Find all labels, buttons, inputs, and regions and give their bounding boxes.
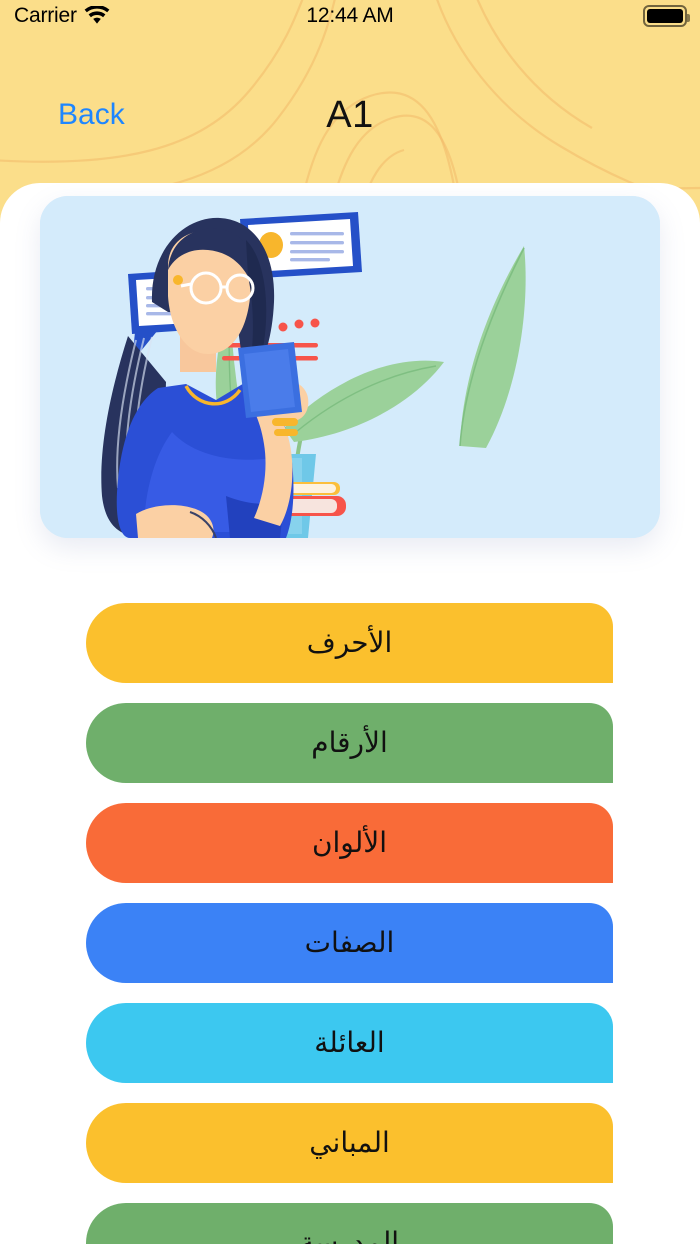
hero-illustration-card <box>40 196 660 538</box>
category-button-school[interactable]: المدرسة <box>86 1203 613 1244</box>
status-bar: Carrier 12:44 AM <box>0 0 700 32</box>
category-button-list: الأحرف الأرقام الألوان الصفات العائلة ال… <box>0 603 700 1244</box>
content-sheet: الأحرف الأرقام الألوان الصفات العائلة ال… <box>0 183 700 1244</box>
header: Carrier 12:44 AM Back A1 <box>0 0 700 200</box>
woman-reading-on-phone-illustration <box>40 196 660 538</box>
status-bar-clock: 12:44 AM <box>0 4 700 28</box>
category-button-buildings[interactable]: المباني <box>86 1103 613 1183</box>
battery-cap <box>687 14 690 22</box>
navigation-bar: Back A1 <box>0 84 700 146</box>
page-title: A1 <box>0 84 700 146</box>
category-button-family[interactable]: العائلة <box>86 1003 613 1083</box>
battery-level-fill <box>647 9 683 23</box>
status-bar-right <box>643 5 687 27</box>
category-button-letters[interactable]: الأحرف <box>86 603 613 683</box>
battery-full-icon <box>643 5 687 27</box>
category-button-adjectives[interactable]: الصفات <box>86 903 613 983</box>
category-button-numbers[interactable]: الأرقام <box>86 703 613 783</box>
category-button-colors[interactable]: الألوان <box>86 803 613 883</box>
app-screen: Carrier 12:44 AM Back A1 <box>0 0 700 1244</box>
